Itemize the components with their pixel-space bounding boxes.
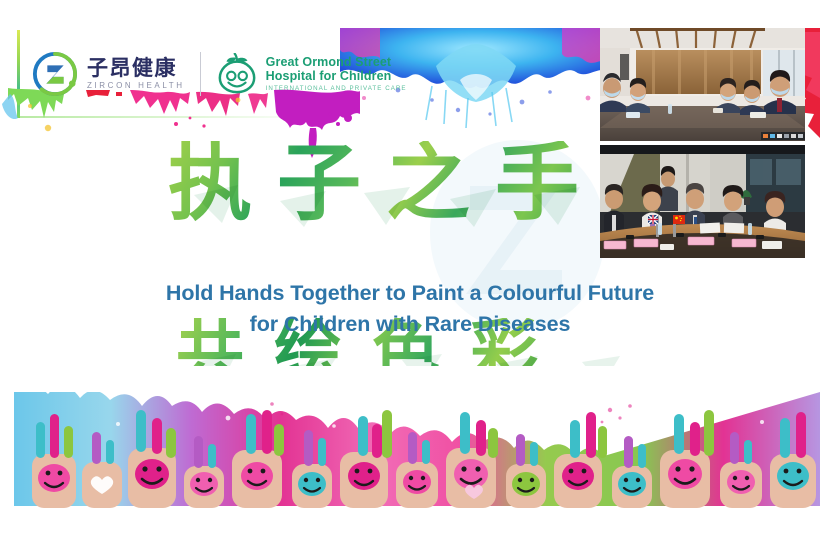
painted-hands-band <box>14 366 820 514</box>
painted-hands-illustration <box>14 366 820 514</box>
zircon-name-en: ZIRCON HEALTH <box>87 82 185 90</box>
gosh-wordmark: Great Ormond Street Hospital for Childre… <box>266 55 407 93</box>
zircon-circle-z-icon <box>32 51 78 97</box>
subtitle-english: Hold Hands Together to Paint a Colourful… <box>0 278 820 340</box>
gosh-logo: Great Ormond Street Hospital for Childre… <box>216 53 407 95</box>
subtitle-line-2: for Children with Rare Diseases <box>0 309 820 340</box>
meeting-room-video-top[interactable] <box>600 28 805 141</box>
smiley-face <box>38 464 70 492</box>
smiley-face <box>298 472 326 496</box>
headline-chinese-line-1: 执子之手 <box>168 141 604 225</box>
presentation-slide: 执子之手 共绘色彩 <box>0 28 820 514</box>
smiley-face <box>403 470 431 494</box>
smiley-face <box>618 472 646 496</box>
zircon-health-logo: 子昂健康 ZIRCON HEALTH <box>32 51 185 97</box>
logo-bar: 子昂健康 ZIRCON HEALTH Great Ormond Street <box>32 46 407 102</box>
smiley-face <box>668 459 702 489</box>
logo-divider <box>200 52 201 96</box>
subtitle-line-1: Hold Hands Together to Paint a Colourful… <box>166 281 654 305</box>
smiley-face <box>727 470 755 494</box>
smiley-face <box>777 462 809 490</box>
smiley-face <box>190 472 218 496</box>
gosh-line-1: Great Ormond Street <box>266 55 407 69</box>
gosh-line-3: INTERNATIONAL AND PRIVATE CARE <box>266 86 407 93</box>
meeting-room-video-bottom[interactable] <box>600 145 805 258</box>
zircon-wordmark: 子昂健康 ZIRCON HEALTH <box>87 58 185 90</box>
smiley-face <box>454 459 488 489</box>
smiley-face <box>562 462 594 490</box>
smiley-face <box>512 472 540 496</box>
gosh-line-2: Hospital for Children <box>266 69 407 83</box>
zircon-name-cn: 子昂健康 <box>87 58 185 79</box>
smiley-face <box>135 459 169 489</box>
screenshot-root: 执子之手 共绘色彩 <box>0 0 820 548</box>
smiley-face <box>241 462 273 490</box>
smiley-face <box>348 462 380 490</box>
gosh-smiley-sprout-icon <box>216 53 258 95</box>
